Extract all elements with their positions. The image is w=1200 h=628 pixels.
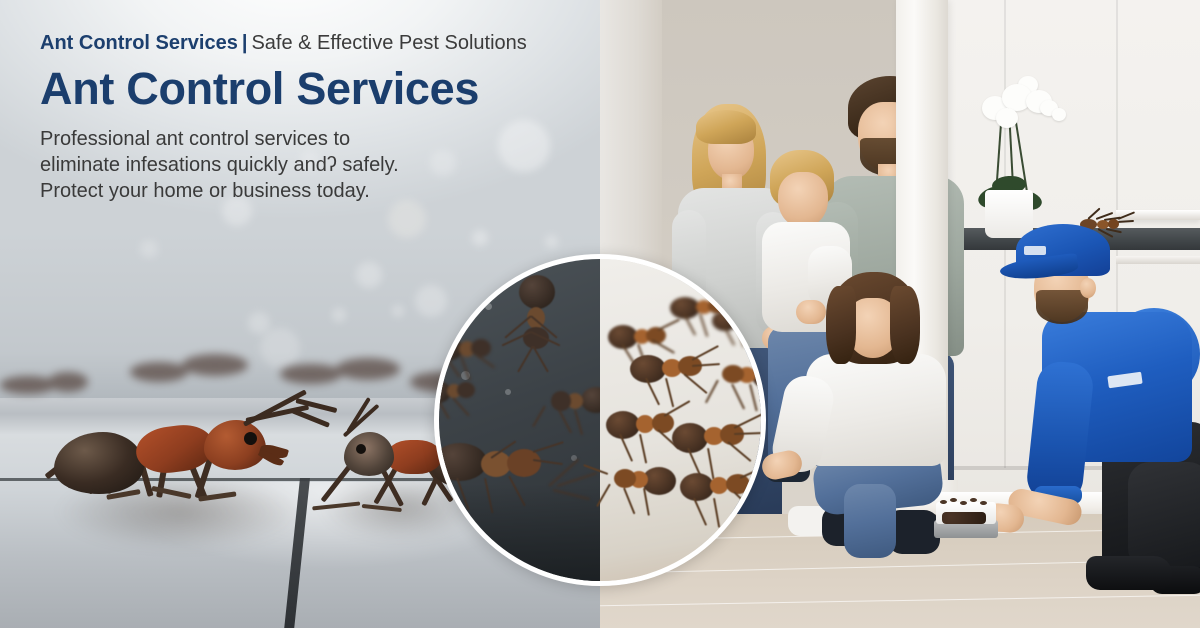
- bokeh-light-circle: [248, 312, 270, 334]
- hair-side: [826, 286, 856, 364]
- ant-eye: [356, 444, 366, 454]
- bait-granules: [942, 512, 986, 524]
- jeans: [844, 484, 896, 558]
- ant-thorax: [386, 440, 442, 474]
- foreground-ant: [48, 400, 298, 520]
- bokeh-light-circle: [332, 308, 346, 322]
- uniform-sleeve: [1025, 359, 1095, 504]
- ant-leg: [362, 504, 402, 512]
- ant-head: [204, 420, 266, 470]
- shoe: [1086, 556, 1172, 590]
- eyebrow-brand: Ant Control Services: [40, 32, 238, 54]
- swarm-ant: [680, 459, 766, 525]
- bokeh-light-circle: [388, 200, 426, 238]
- orchid-bloom: [996, 108, 1018, 128]
- swarm-ant: [712, 303, 766, 351]
- background-blurred-ant: [280, 358, 400, 392]
- ant-eye: [244, 432, 257, 445]
- bokeh-light-circle: [392, 305, 404, 317]
- inset-dark-half: [439, 259, 600, 581]
- eyebrow-line: Ant Control Services|Safe & Effective Pe…: [40, 30, 585, 56]
- subcopy-line-1: Professional ant control services to: [40, 126, 585, 152]
- swarm-ant: [704, 353, 766, 413]
- person-pest-control-technician: [990, 212, 1200, 628]
- subcopy-block: Professional ant control services to eli…: [40, 126, 585, 204]
- page-title: Ant Control Services: [40, 62, 585, 116]
- bokeh-light-circle: [356, 262, 382, 288]
- headline-copy-block: Ant Control Services|Safe & Effective Pe…: [40, 30, 585, 204]
- bokeh-light-circle: [140, 240, 158, 258]
- eyebrow-tagline: Safe & Effective Pest Solutions: [251, 32, 526, 54]
- subcopy-line-2: eliminate infesations quickly andʔ safel…: [40, 152, 585, 178]
- ear: [1080, 278, 1096, 298]
- hair-side: [890, 286, 920, 364]
- cap-logo-patch: [1024, 246, 1046, 255]
- swarm-ant: [434, 375, 495, 431]
- swarm-ant: [501, 275, 571, 385]
- trousers-knee: [1128, 462, 1200, 570]
- beard: [1036, 290, 1088, 324]
- bokeh-light-circle: [545, 235, 558, 248]
- ant-abdomen: [54, 432, 144, 494]
- background-blurred-ant: [0, 370, 90, 400]
- bokeh-light-circle: [472, 230, 488, 246]
- circular-inset-ant-swarm: [434, 254, 766, 586]
- ant-leg: [312, 501, 360, 510]
- ants-on-bait: [938, 496, 994, 510]
- ant-control-services-banner: Ant Control Services|Safe & Effective Pe…: [0, 0, 1200, 628]
- ant-head: [344, 432, 394, 476]
- background-blurred-ant: [130, 352, 250, 388]
- subcopy-line-3: Protect your home or business today.: [40, 178, 585, 204]
- hair-fringe: [696, 110, 756, 144]
- ant-bait-station: [934, 496, 998, 538]
- eyebrow-separator: |: [242, 32, 248, 54]
- inset-light-half: [600, 259, 761, 581]
- face: [778, 172, 828, 228]
- orchid-bloom: [1052, 108, 1066, 121]
